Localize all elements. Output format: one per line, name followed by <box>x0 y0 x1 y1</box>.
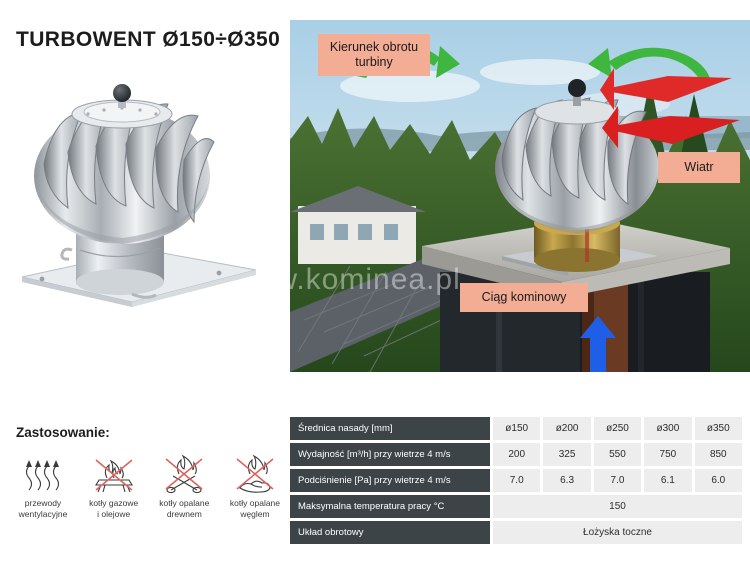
badge-chimney-draft: Ciąg kominowy <box>460 283 588 312</box>
row-label: Maksymalna temperatura pracy °C <box>290 495 490 518</box>
table-cell: ø200 <box>540 417 590 440</box>
row-label: Podciśnienie [Pa] przy wietrze 4 m/s <box>290 469 490 492</box>
table-row: Średnica nasady [mm] ø150 ø200 ø250 ø300… <box>290 417 742 440</box>
application-label: przewody wentylacyjne <box>10 498 76 520</box>
table-cell: 550 <box>591 443 641 466</box>
spec-table: Średnica nasady [mm] ø150 ø200 ø250 ø300… <box>290 414 742 547</box>
row-label: Średnica nasady [mm] <box>290 417 490 440</box>
gas-oil-boiler-icon <box>81 448 147 494</box>
table-cell: 7.0 <box>591 469 641 492</box>
row-label: Układ obrotowy <box>290 521 490 544</box>
coal-boiler-icon <box>222 448 288 494</box>
table-cell: ø350 <box>692 417 742 440</box>
badge-rotation-direction: Kierunek obrotu turbiny <box>318 34 430 76</box>
table-cell: ø250 <box>591 417 641 440</box>
product-illustration <box>14 72 264 312</box>
application-heading: Zastosowanie: <box>16 425 110 440</box>
table-row: Podciśnienie [Pa] przy wietrze 4 m/s 7.0… <box>290 469 742 492</box>
table-cell-merged: 150 <box>490 495 742 518</box>
spec-table-element: Średnica nasady [mm] ø150 ø200 ø250 ø300… <box>290 414 742 547</box>
application-icon-row: przewody wentylacyjne kotły gazowe i ole… <box>10 448 288 520</box>
application-item-ventilation: przewody wentylacyjne <box>10 448 76 520</box>
page-root: TURBOWENT Ø150÷Ø350 <box>0 0 750 562</box>
application-item-gas-oil-boiler: kotły gazowe i olejowe <box>81 448 147 520</box>
table-cell: ø300 <box>641 417 691 440</box>
table-row: Maksymalna temperatura pracy °C 150 <box>290 495 742 518</box>
table-cell: 6.1 <box>641 469 691 492</box>
product-photo <box>14 72 264 312</box>
table-cell: 850 <box>692 443 742 466</box>
application-item-wood-boiler: kotły opalane drewnem <box>151 448 217 520</box>
table-cell: 6.3 <box>540 469 590 492</box>
table-row: Układ obrotowy Łożyska toczne <box>290 521 742 544</box>
wood-boiler-icon <box>151 448 217 494</box>
table-cell: 750 <box>641 443 691 466</box>
ventilation-ducts-icon <box>10 448 76 494</box>
application-label: kotły opalane drewnem <box>151 498 217 520</box>
table-cell-merged: Łożyska toczne <box>490 521 742 544</box>
badge-wind: Wiatr <box>658 152 740 183</box>
application-label: kotły opalane węglem <box>222 498 288 520</box>
page-title: TURBOWENT Ø150÷Ø350 <box>16 28 280 52</box>
scene-photo: www.kominea.pl Kierunek obrotu turbiny W… <box>290 20 750 372</box>
table-cell: 200 <box>490 443 540 466</box>
application-label: kotły gazowe i olejowe <box>81 498 147 520</box>
table-cell: 6.0 <box>692 469 742 492</box>
application-item-coal-boiler: kotły opalane węglem <box>222 448 288 520</box>
table-cell: ø150 <box>490 417 540 440</box>
table-row: Wydajność [m³/h] przy wietrze 4 m/s 200 … <box>290 443 742 466</box>
table-cell: 325 <box>540 443 590 466</box>
table-cell: 7.0 <box>490 469 540 492</box>
row-label: Wydajność [m³/h] przy wietrze 4 m/s <box>290 443 490 466</box>
